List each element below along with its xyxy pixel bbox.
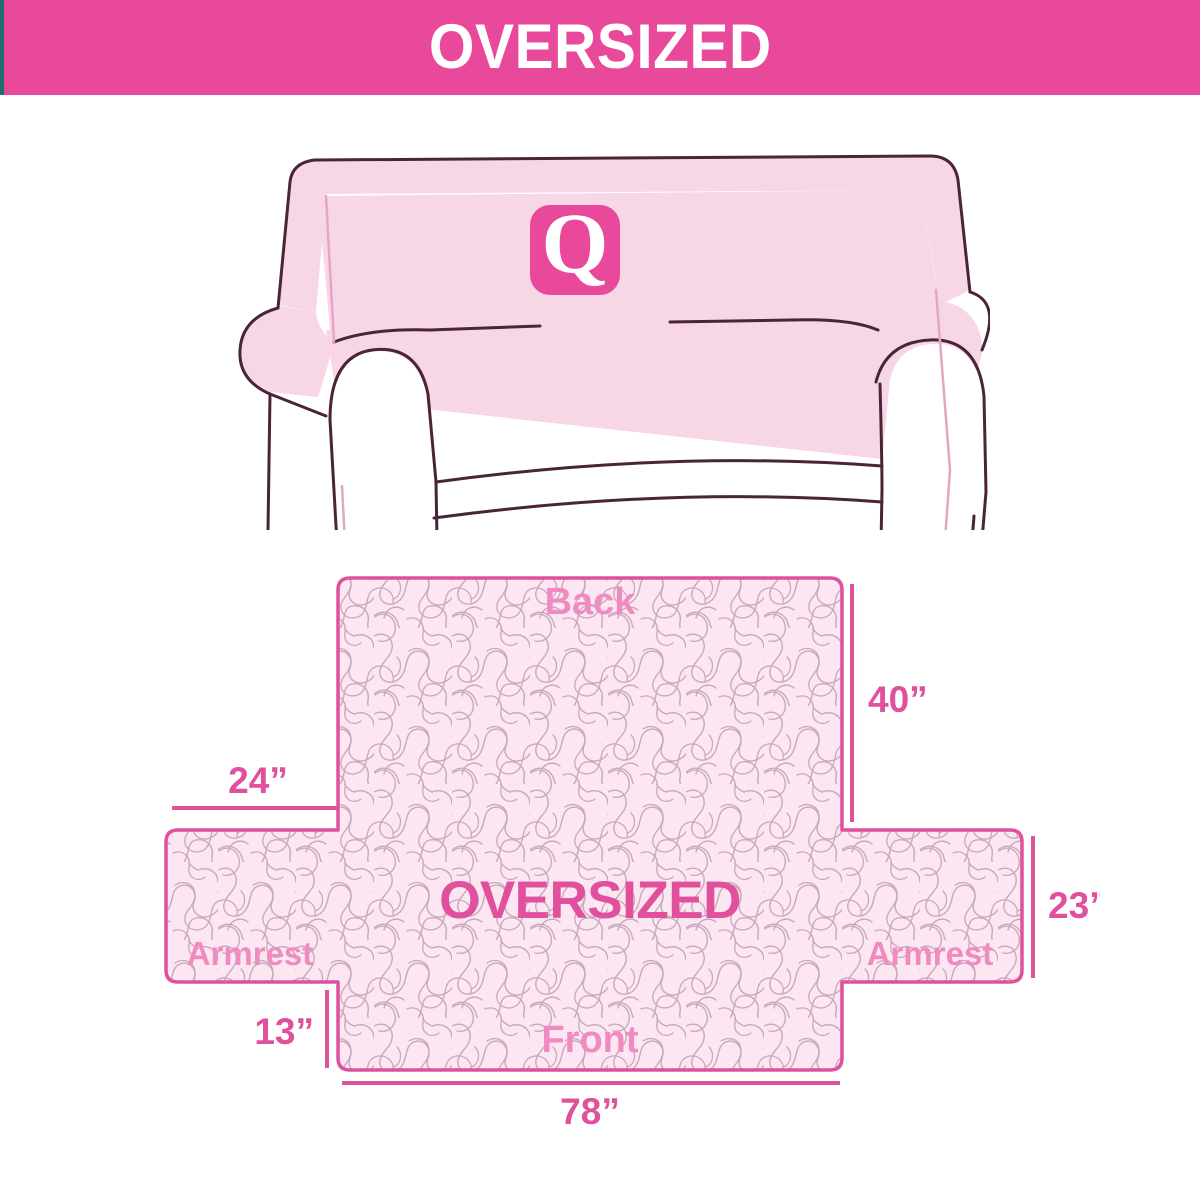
sofa-base-left-top xyxy=(268,394,270,530)
pattern-diagram: Back Front Armrest Armrest OVERSIZED 24”… xyxy=(140,550,1100,1150)
page-title: OVERSIZED xyxy=(429,16,772,79)
label-armrest-right: Armrest xyxy=(867,935,994,972)
sofa-right-arm-inner xyxy=(880,384,882,530)
label-armrest-left: Armrest xyxy=(187,935,314,972)
sofa-illustration: Q xyxy=(230,130,990,530)
dim-value-13: 13” xyxy=(254,1011,314,1052)
header-banner: OVERSIZED xyxy=(0,0,1200,95)
label-front: Front xyxy=(541,1019,638,1061)
dim-value-23: 23” xyxy=(1048,885,1100,926)
brand-logo: Q xyxy=(530,195,620,295)
dim-value-40: 40” xyxy=(868,679,928,720)
dim-value-24: 24” xyxy=(228,760,288,801)
label-center-size: OVERSIZED xyxy=(439,871,741,930)
dim-value-78: 78” xyxy=(560,1091,620,1132)
label-back: Back xyxy=(545,581,637,623)
header-edge-strip xyxy=(0,0,4,95)
sofa-drawing: Q xyxy=(240,156,990,530)
logo-letter: Q xyxy=(542,195,609,291)
